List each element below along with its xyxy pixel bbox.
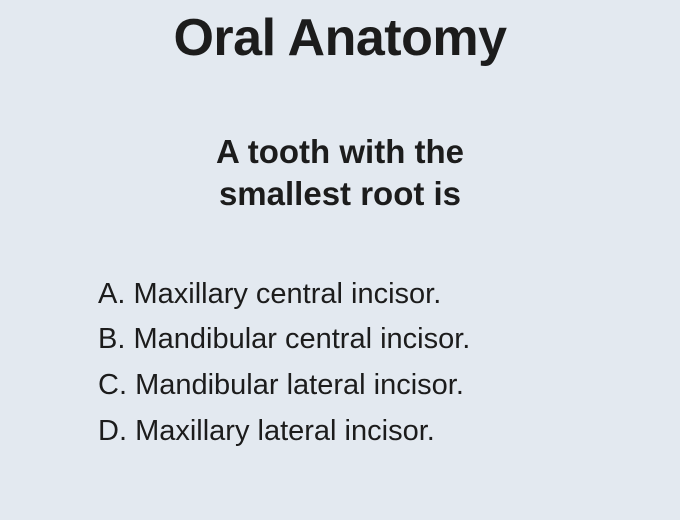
option-d-text: Maxillary lateral incisor. — [135, 415, 435, 447]
option-b[interactable]: B. Mandibular central incisor. — [98, 317, 660, 363]
question-text: A tooth with the smallest root is — [216, 131, 464, 215]
page-title: Oral Anatomy — [173, 8, 506, 67]
option-c-text: Mandibular lateral incisor. — [135, 369, 464, 401]
option-b-letter: B. — [98, 323, 125, 355]
option-a[interactable]: A. Maxillary central incisor. — [98, 272, 660, 318]
question-card: Oral Anatomy A tooth with the smallest r… — [0, 0, 680, 520]
option-a-text: Maxillary central incisor. — [133, 278, 441, 310]
option-c-letter: C. — [98, 369, 127, 401]
option-c[interactable]: C. Mandibular lateral incisor. — [98, 363, 660, 409]
options-list: A. Maxillary central incisor. B. Mandibu… — [0, 272, 680, 455]
option-d[interactable]: D. Maxillary lateral incisor. — [98, 409, 660, 455]
question-line-1: A tooth with the — [216, 131, 464, 173]
question-line-2: smallest root is — [216, 173, 464, 215]
option-b-text: Mandibular central incisor. — [133, 323, 470, 355]
option-a-letter: A. — [98, 278, 125, 310]
option-d-letter: D. — [98, 415, 127, 447]
